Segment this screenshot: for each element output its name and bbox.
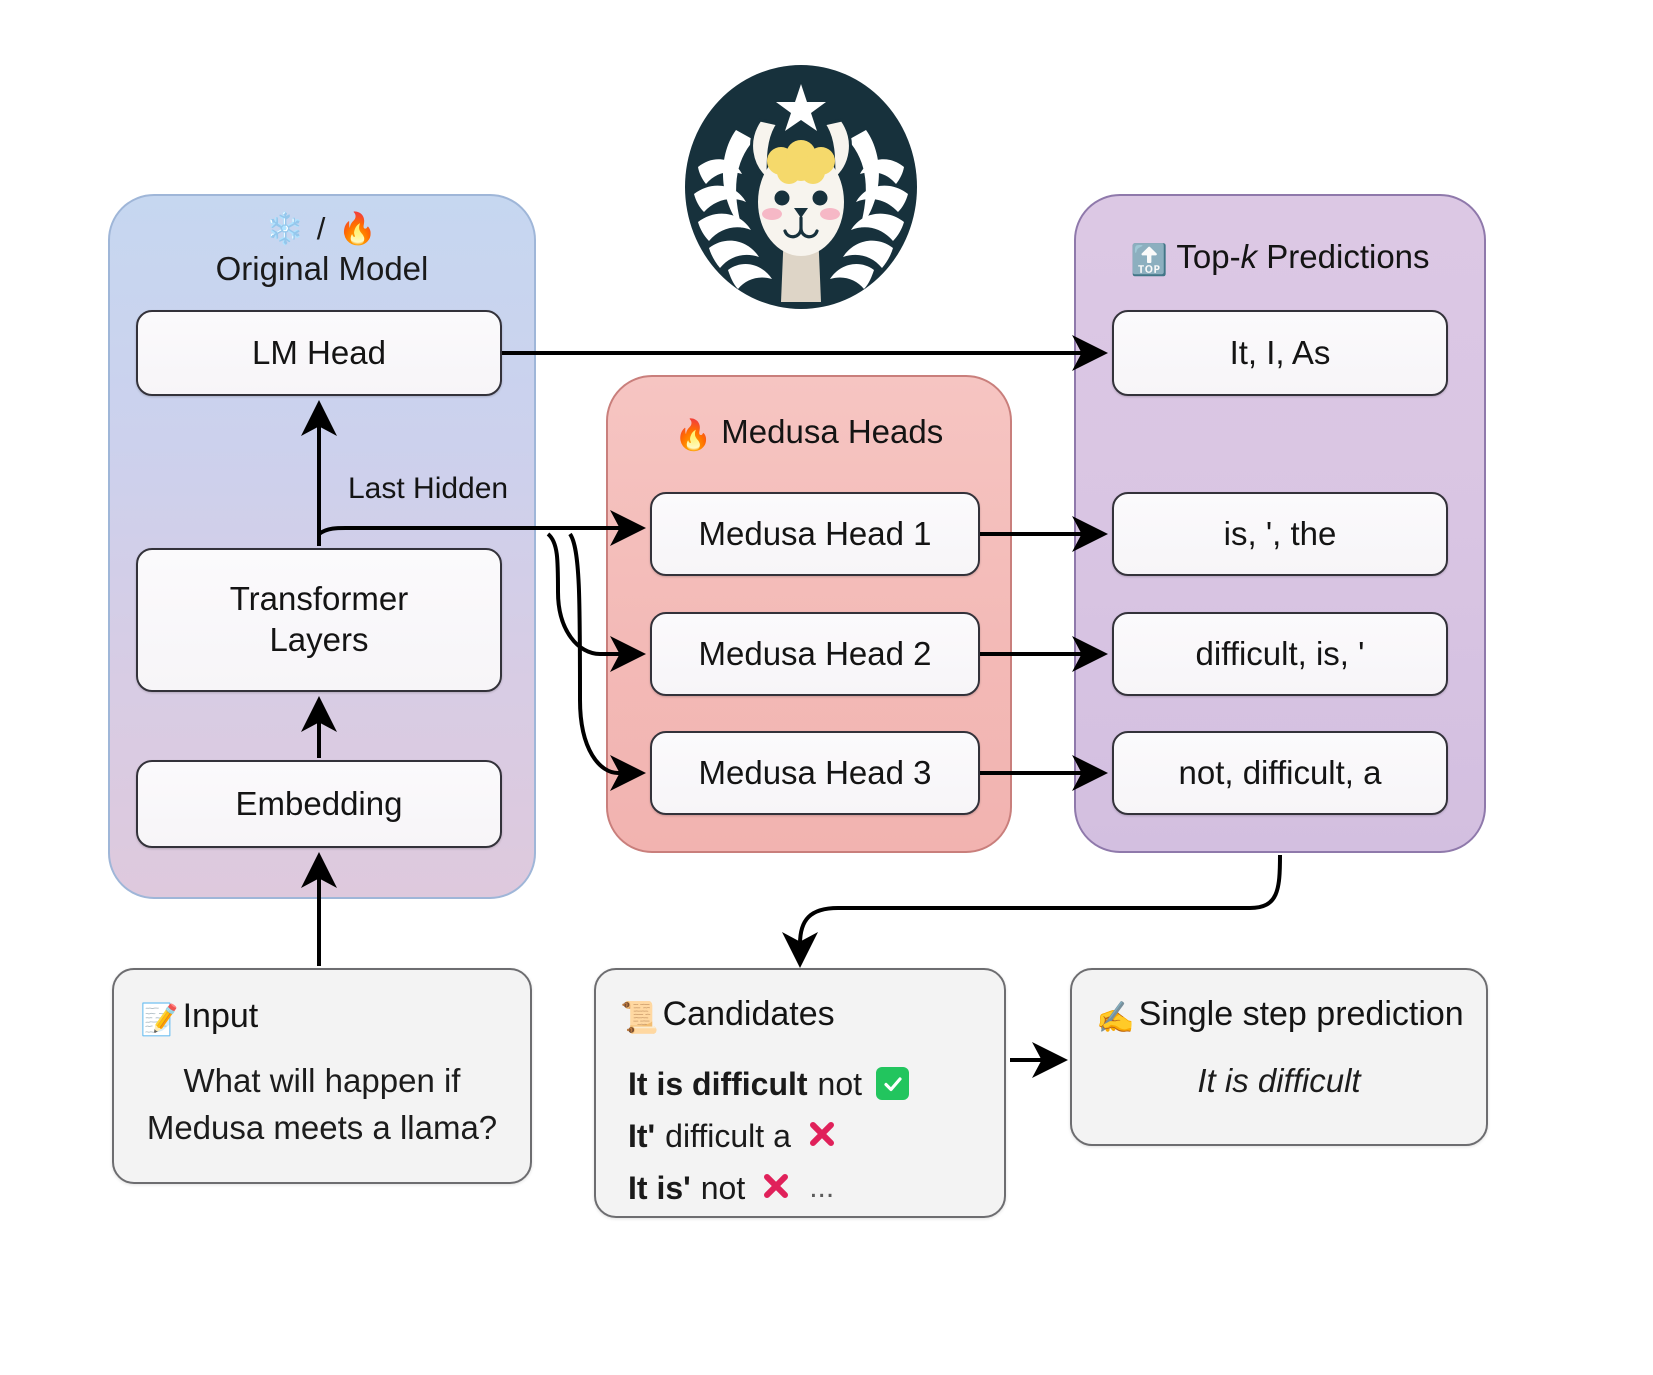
node-transformer-layers[interactable]: Transformer Layers (136, 548, 502, 692)
topk-title-k: k (1241, 238, 1258, 275)
candidate-accepted-text: It is' (628, 1162, 691, 1214)
diagram-canvas: ❄️ / 🔥 Original Model 🔥 Medusa Heads 🔝 T… (0, 0, 1653, 1375)
single-step-result: It is difficult (1072, 1062, 1486, 1100)
node-topk-head-2[interactable]: difficult, is, ' (1112, 612, 1448, 696)
check-icon (876, 1067, 909, 1100)
candidate-row: It' difficult a (628, 1110, 990, 1162)
original-model-title: Original Model (110, 248, 534, 290)
topk-title-suffix: Predictions (1257, 238, 1429, 275)
node-lm-head[interactable]: LM Head (136, 310, 502, 396)
candidate-status-icon (876, 1067, 909, 1101)
candidate-rejected-text: not (818, 1058, 862, 1110)
input-card-title: Input (183, 997, 259, 1035)
fire-icon: 🔥 (338, 211, 379, 246)
candidates-more-indicator: ... (809, 1162, 834, 1214)
candidates-card-title: Candidates (663, 995, 835, 1033)
cross-icon (759, 1169, 793, 1203)
slash-separator: / (317, 211, 328, 246)
candidate-accepted-text: It' (628, 1110, 655, 1162)
card-input: 📝Input What will happen if Medusa meets … (112, 968, 532, 1184)
topk-title-block: 🔝 Top-k Predictions (1076, 238, 1484, 278)
card-single-step-prediction: ✍️Single step prediction It is difficult (1070, 968, 1488, 1146)
node-embedding[interactable]: Embedding (136, 760, 502, 848)
input-text-line-1: What will happen if (114, 1058, 530, 1105)
candidate-status-icon (805, 1117, 839, 1155)
snowflake-icon: ❄️ (265, 211, 306, 246)
scroll-icon: 📜 (620, 1000, 659, 1035)
cross-icon (805, 1117, 839, 1151)
memo-icon: 📝 (140, 1002, 179, 1037)
input-card-body: What will happen if Medusa meets a llama… (114, 1058, 530, 1152)
candidate-row: It is difficult not (628, 1058, 990, 1110)
candidate-rejected-text: difficult a (665, 1110, 791, 1162)
input-text-line-2: Medusa meets a llama? (114, 1105, 530, 1152)
single-step-card-title: Single step prediction (1139, 995, 1464, 1033)
fire-icon: 🔥 (675, 419, 712, 452)
node-medusa-head-1[interactable]: Medusa Head 1 (650, 492, 980, 576)
original-model-state-icons: ❄️ / 🔥 (110, 210, 534, 248)
candidates-list: It is difficult not It' difficult a (628, 1058, 990, 1214)
edge-topk-to-candidates (800, 855, 1280, 962)
node-medusa-head-2[interactable]: Medusa Head 2 (650, 612, 980, 696)
candidate-rejected-text: not (701, 1162, 745, 1214)
single-step-card-header: ✍️Single step prediction (1096, 995, 1464, 1036)
card-candidates: 📜Candidates It is difficult not It' diff… (594, 968, 1006, 1218)
candidates-card-header: 📜Candidates (620, 995, 835, 1036)
node-topk-head-3[interactable]: not, difficult, a (1112, 731, 1448, 815)
candidate-accepted-text: It is difficult (628, 1058, 808, 1110)
node-medusa-head-3[interactable]: Medusa Head 3 (650, 731, 980, 815)
candidate-row: It is' not ... (628, 1162, 990, 1214)
input-card-header: 📝Input (140, 997, 258, 1038)
topk-title-prefix: Top- (1176, 238, 1240, 275)
medusa-heads-title-block: 🔥 Medusa Heads (608, 413, 1010, 453)
medusa-heads-title: Medusa Heads (721, 413, 943, 450)
writing-hand-icon: ✍️ (1096, 1000, 1135, 1035)
original-model-title-block: ❄️ / 🔥 Original Model (110, 210, 534, 290)
top-arrow-icon: 🔝 (1130, 244, 1167, 277)
edge-label-last-hidden: Last Hidden (348, 472, 508, 506)
node-topk-lm-head[interactable]: It, I, As (1112, 310, 1448, 396)
medusa-llama-logo (676, 62, 926, 312)
candidate-status-icon (759, 1169, 793, 1207)
node-topk-head-1[interactable]: is, ', the (1112, 492, 1448, 576)
